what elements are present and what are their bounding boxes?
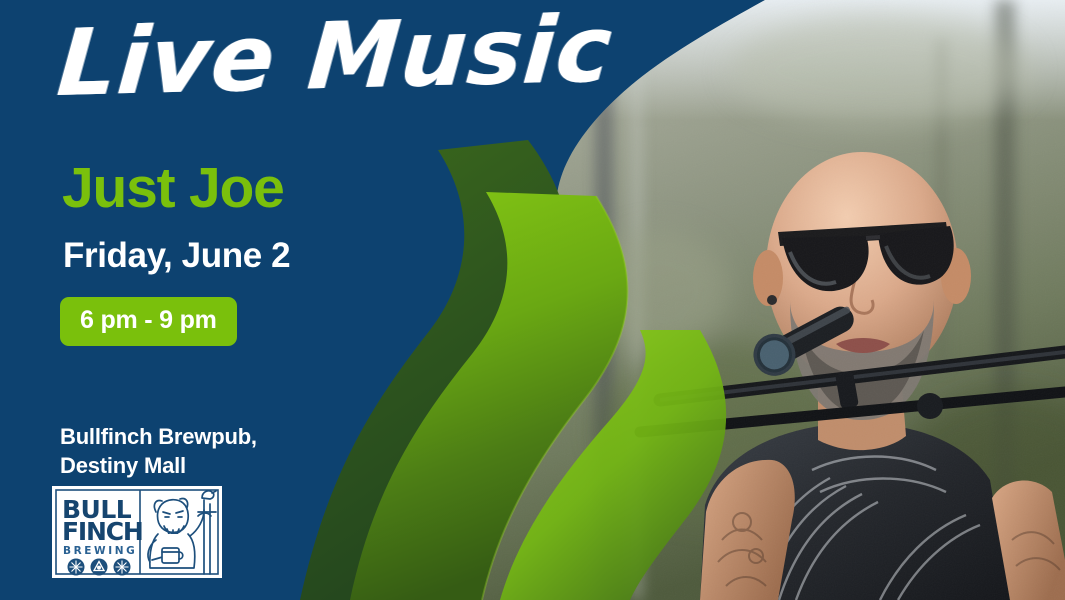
poster-text-column: Live Music Just Joe Friday, June 2 6 pm … [0, 0, 620, 600]
band-name: Just Joe [62, 155, 284, 221]
time-badge: 6 pm - 9 pm [60, 297, 237, 346]
venue-address: Bullfinch Brewpub, Destiny Mall [60, 422, 257, 481]
hop-emblems [68, 559, 131, 576]
event-poster: Live Music Just Joe Friday, June 2 6 pm … [0, 0, 1065, 600]
logo-line-2: FINCH [62, 517, 143, 546]
event-date: Friday, June 2 [63, 236, 290, 276]
bullfinch-brewing-logo: BULL FINCH BREWING [52, 482, 222, 582]
page-title: Live Music [54, 4, 615, 110]
logo-line-3: BREWING [63, 545, 137, 557]
